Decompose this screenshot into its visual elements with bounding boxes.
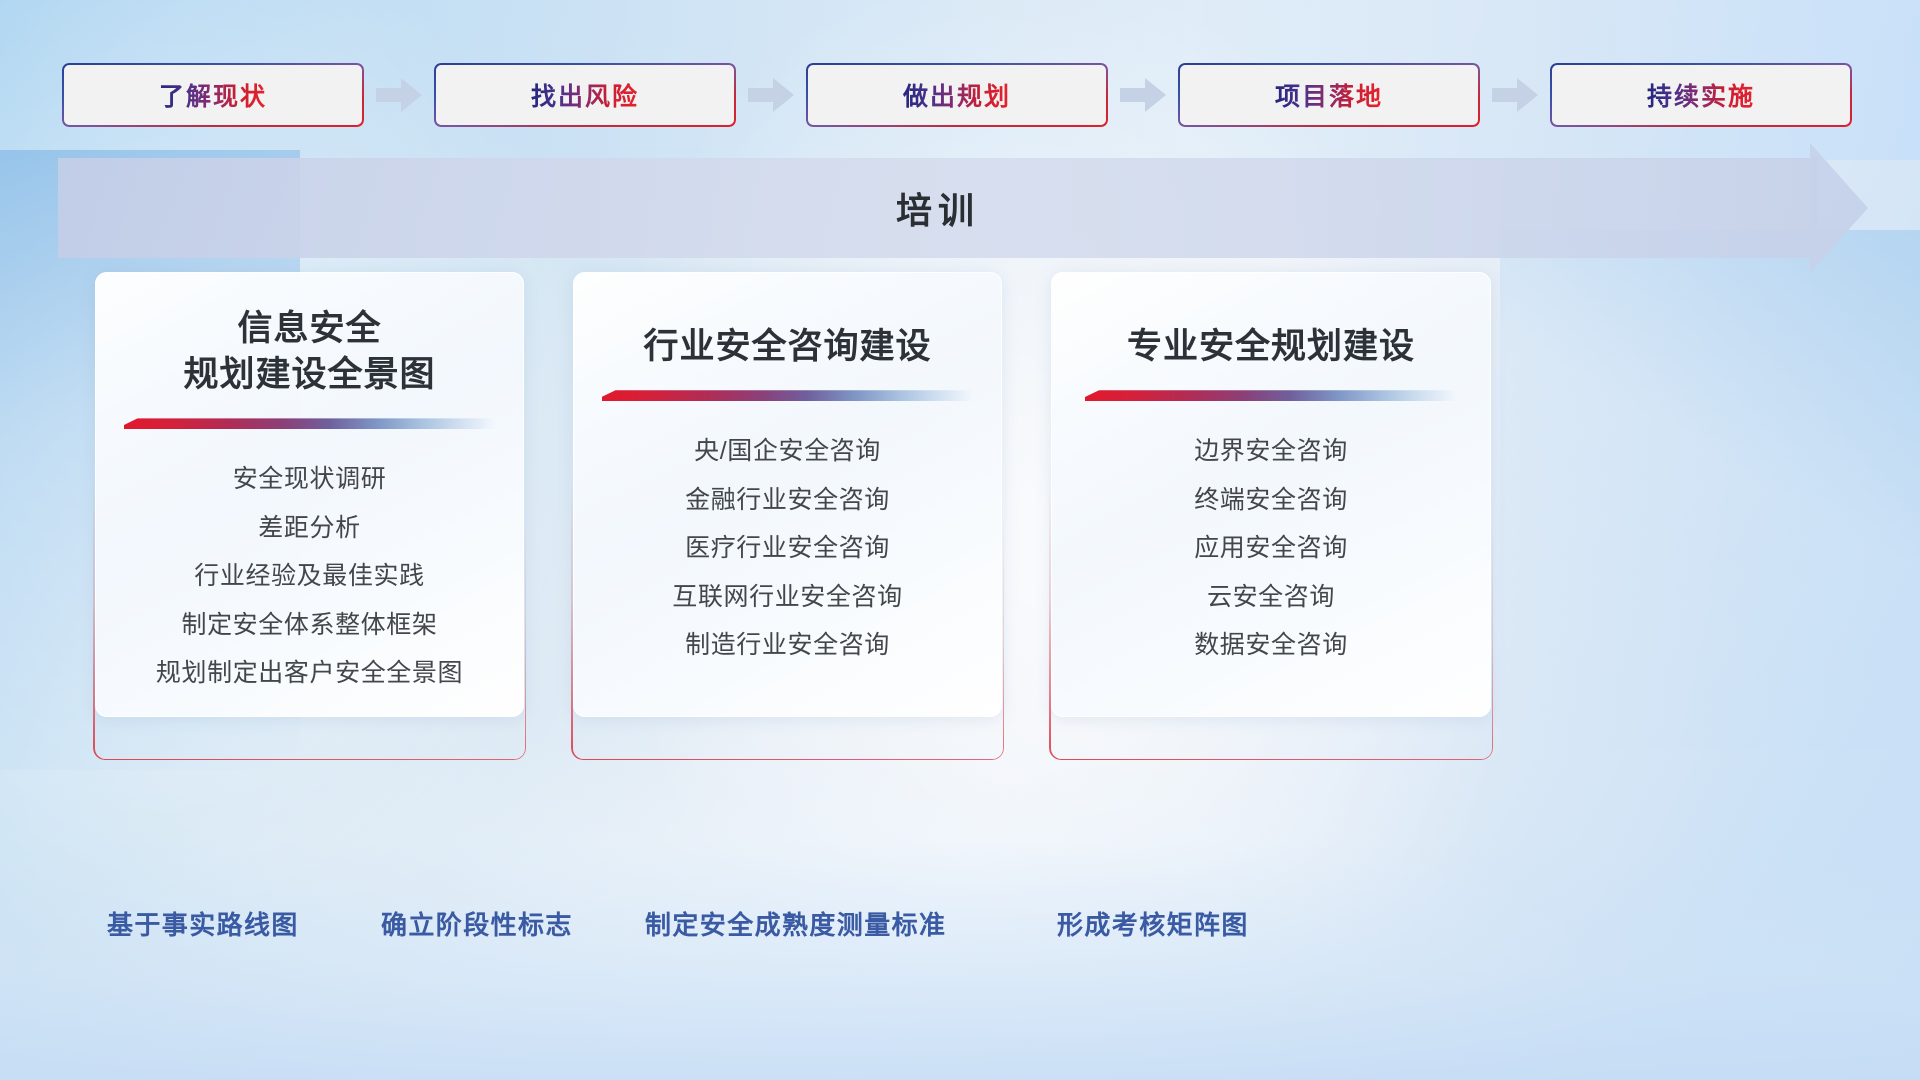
process-step-2[interactable]: 找出风险 (434, 63, 736, 127)
process-step-label: 找出风险 (531, 77, 639, 113)
process-step-1[interactable]: 了解现状 (62, 63, 364, 127)
card-title: 专业安全规划建设 (1127, 324, 1415, 370)
service-card-1-wrapper: 信息安全 规划建设全景图 安全现状调研 差距分析 行业经验及最佳实践 制定安全体… (95, 272, 524, 717)
list-item: 金融行业安全咨询 (685, 480, 890, 521)
list-item: 云安全咨询 (1207, 577, 1335, 618)
list-item: 差距分析 (258, 508, 360, 549)
list-item: 规划制定出客户安全全景图 (156, 653, 463, 694)
service-card-2-wrapper: 行业安全咨询建设 央/国企安全咨询 金融行业安全咨询 医疗行业安全咨询 互联网行… (573, 272, 1002, 717)
card-item-list: 央/国企安全咨询 金融行业安全咨询 医疗行业安全咨询 互联网行业安全咨询 制造行… (672, 431, 902, 666)
arrow-right-icon (736, 63, 806, 127)
arrow-right-icon (1480, 63, 1550, 127)
service-card-3-wrapper: 专业安全规划建设 边界安全咨询 终端安全咨询 应用安全咨询 云安全咨询 数据安全… (1051, 272, 1491, 717)
service-card-list: 信息安全 规划建设全景图 安全现状调研 差距分析 行业经验及最佳实践 制定安全体… (95, 272, 1830, 717)
banner-title: 培训 (58, 158, 1818, 258)
banner-arrow-right-icon (1810, 143, 1868, 273)
outcome-label: 基于事实路线图 (107, 905, 299, 942)
list-item: 行业经验及最佳实践 (194, 556, 424, 597)
process-step-3[interactable]: 做出规划 (806, 63, 1108, 127)
outcome-label: 确立阶段性标志 (381, 905, 573, 942)
list-item: 互联网行业安全咨询 (672, 577, 902, 618)
list-item: 安全现状调研 (233, 459, 387, 500)
card-divider (1085, 390, 1457, 401)
training-banner: 培训 (58, 158, 1868, 258)
process-step-5[interactable]: 持续实施 (1550, 63, 1852, 127)
process-step-label: 做出规划 (903, 77, 1011, 113)
card-title: 信息安全 规划建设全景图 (183, 306, 435, 398)
outcome-label: 形成考核矩阵图 (1057, 905, 1249, 942)
card-title: 行业安全咨询建设 (643, 324, 931, 370)
card-divider (124, 418, 496, 429)
list-item: 终端安全咨询 (1194, 480, 1348, 521)
list-item: 数据安全咨询 (1194, 625, 1348, 666)
list-item: 制造行业安全咨询 (685, 625, 890, 666)
arrow-right-icon (1108, 63, 1178, 127)
list-item: 央/国企安全咨询 (694, 431, 881, 472)
service-card[interactable]: 行业安全咨询建设 央/国企安全咨询 金融行业安全咨询 医疗行业安全咨询 互联网行… (573, 272, 1002, 717)
process-step-label: 项目落地 (1275, 77, 1383, 113)
card-item-list: 边界安全咨询 终端安全咨询 应用安全咨询 云安全咨询 数据安全咨询 (1194, 431, 1348, 666)
process-step-label: 持续实施 (1647, 77, 1755, 113)
list-item: 制定安全体系整体框架 (181, 605, 437, 646)
list-item: 医疗行业安全咨询 (685, 528, 890, 569)
outcome-label-list: 基于事实路线图 确立阶段性标志 制定安全成熟度测量标准 形成考核矩阵图 (0, 905, 1920, 955)
card-item-list: 安全现状调研 差距分析 行业经验及最佳实践 制定安全体系整体框架 规划制定出客户… (156, 459, 463, 694)
process-step-4[interactable]: 项目落地 (1178, 63, 1480, 127)
process-step-label: 了解现状 (159, 77, 267, 113)
process-step-list: 了解现状 找出风险 做出规划 项目落地 持续实施 (62, 63, 1858, 127)
list-item: 应用安全咨询 (1194, 528, 1348, 569)
card-divider (602, 390, 974, 401)
service-card[interactable]: 信息安全 规划建设全景图 安全现状调研 差距分析 行业经验及最佳实践 制定安全体… (95, 272, 524, 717)
background-bottom-fade (0, 840, 1920, 1080)
service-card[interactable]: 专业安全规划建设 边界安全咨询 终端安全咨询 应用安全咨询 云安全咨询 数据安全… (1051, 272, 1491, 717)
outcome-label: 制定安全成熟度测量标准 (645, 905, 946, 942)
list-item: 边界安全咨询 (1194, 431, 1348, 472)
arrow-right-icon (364, 63, 434, 127)
